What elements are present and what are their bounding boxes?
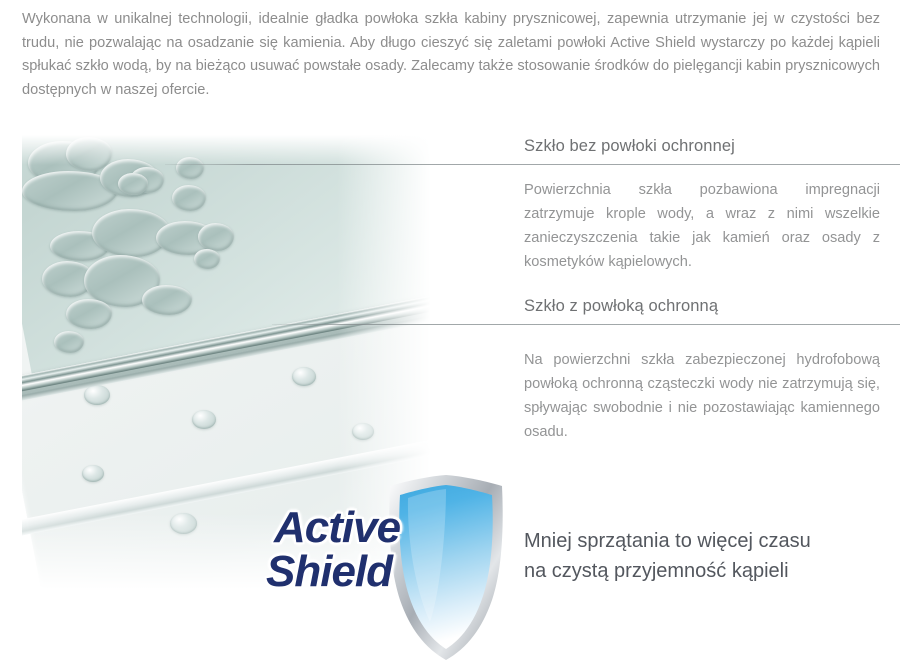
divider-rule-top: [165, 164, 900, 165]
active-shield-logo: Active Shield: [262, 470, 512, 670]
tagline-line-1: Mniej sprzątania to więcej czasu: [524, 526, 884, 556]
section-heading-coated: Szkło z powłoką ochronną: [524, 297, 718, 316]
logo-wordmark: Active Shield: [274, 506, 474, 594]
intro-paragraph: Wykonana w unikalnej technologii, idealn…: [22, 8, 880, 102]
section-body-coated: Na powierzchni szkła zabezpieczonej hydr…: [524, 348, 880, 444]
section-heading-uncoated: Szkło bez powłoki ochronnej: [524, 137, 735, 156]
water-film-blob: [194, 249, 220, 269]
section-body-uncoated: Powierzchnia szkła pozbawiona impregnacj…: [524, 178, 880, 274]
water-bead: [82, 465, 104, 482]
water-film-blob: [118, 173, 148, 195]
logo-line-active: Active: [274, 506, 474, 550]
tagline: Mniej sprzątania to więcej czasu na czys…: [524, 526, 884, 586]
water-film-blob: [142, 285, 192, 315]
water-film-blob: [54, 331, 84, 353]
logo-line-shield: Shield: [266, 550, 474, 594]
water-bead: [192, 410, 216, 429]
water-film-blob: [198, 223, 234, 251]
water-bead: [84, 385, 110, 405]
water-bead: [292, 367, 316, 386]
water-film-blob: [66, 299, 112, 329]
tagline-line-2: na czystą przyjemność kąpieli: [524, 556, 884, 586]
water-film-blob: [172, 185, 206, 211]
divider-rule-middle: [272, 324, 900, 325]
